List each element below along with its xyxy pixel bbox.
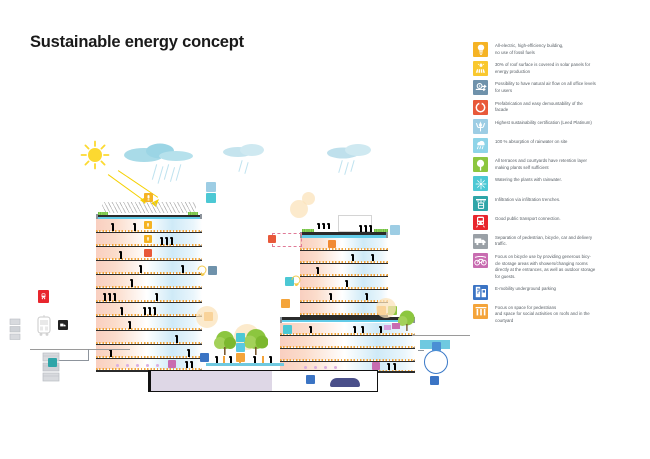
ground-line: [30, 349, 130, 350]
solar-panel-roof: [102, 202, 196, 213]
person-figure: [154, 308, 156, 315]
person-figure: [318, 224, 320, 229]
person-figure: [188, 350, 190, 357]
person-figure: [161, 238, 163, 245]
cloud-left: [122, 142, 194, 169]
person-figure: [330, 294, 332, 300]
bicycle-icon: [473, 253, 488, 268]
legend-label: All-electric, high-efficiency building, …: [495, 42, 563, 56]
legend-item-pedestrian-space[interactable]: Focus on space for pedestrians and space…: [473, 304, 648, 325]
person-figure: [186, 362, 188, 368]
person-figure: [144, 308, 146, 315]
legend-item-infiltration-trenches[interactable]: Infiltration via infiltration trenches.: [473, 196, 648, 211]
legend-label: Possibility to have natural air flow on …: [495, 80, 596, 94]
ev-charging-icon: [473, 285, 488, 300]
prefab-facade-callout: [272, 233, 302, 247]
person-figure: [346, 281, 348, 287]
courtyard-bollard: [223, 356, 225, 363]
person-figure: [171, 238, 173, 245]
legend-item-retention-layer[interactable]: All terraces and courtyards have retenti…: [473, 157, 648, 172]
legend-label: Prefabrication and easy demountability o…: [495, 100, 583, 114]
person-figure: [111, 223, 114, 225]
roadside-tree: [398, 310, 416, 337]
person-figure: [317, 223, 320, 225]
person-figure: [120, 307, 123, 309]
tram-illustration: [36, 315, 52, 342]
rain-drop: [170, 167, 175, 182]
glass-band: [280, 320, 415, 323]
lightbulb-badge: [144, 193, 153, 202]
delivery-truck-icon: [473, 234, 488, 249]
airflow-badge: [283, 325, 292, 334]
person-figure: [131, 280, 133, 287]
person-figure: [114, 294, 116, 301]
infiltration-trench-boxes-far-left: [8, 318, 22, 349]
legend-item-bicycle-focus[interactable]: Focus on bicycle use by providing genero…: [473, 253, 648, 280]
prefab-circle-icon: [473, 100, 488, 115]
person-figure: [190, 361, 193, 363]
person-figure: [149, 308, 151, 315]
planting-flower: [116, 364, 119, 367]
person-figure: [394, 364, 396, 370]
person-figure: [191, 362, 193, 368]
legend-item-traffic-separation[interactable]: Separation of pedestrian, bicycle, car a…: [473, 234, 648, 249]
person-figure: [120, 252, 122, 259]
person-figure: [108, 293, 111, 295]
ground-line-right: [412, 335, 470, 336]
lightbulb-icon: [473, 42, 488, 57]
tree-badge: [236, 343, 245, 352]
person-figure: [110, 350, 112, 357]
planting-flower: [136, 364, 139, 367]
person-figure: [366, 294, 368, 300]
planting-box: [392, 323, 400, 329]
planting-flower: [334, 366, 337, 369]
planting-flower: [304, 366, 307, 369]
legend-item-solar-panels[interactable]: 30% of roof surface is covered in solar …: [473, 61, 648, 76]
person-figure: [166, 238, 168, 245]
person-figure: [388, 364, 390, 370]
central-courtyard: [206, 320, 284, 370]
person-figure: [140, 266, 142, 273]
cistern-pipe: [418, 350, 424, 351]
person-figure: [176, 336, 178, 343]
airflow-badge: [206, 193, 216, 203]
tree-retention-icon: [473, 157, 488, 172]
legend-label: Focus on space for pedestrians and space…: [495, 304, 590, 325]
ev-charging-badge: [306, 375, 315, 384]
warm-halo: [376, 298, 396, 318]
roof-pavilion: [338, 215, 372, 232]
sun-icon: [80, 140, 110, 170]
person-figure: [155, 293, 158, 295]
airflow-swirl-icon: [196, 262, 210, 276]
person-figure: [322, 223, 325, 225]
person-figure: [270, 357, 272, 363]
person-figure: [134, 224, 136, 231]
person-figure: [327, 223, 330, 225]
person-figure: [175, 335, 178, 337]
legend-label: Highest sustainability certification (Le…: [495, 119, 592, 127]
page-title: Sustainable energy concept: [30, 33, 244, 52]
legend-item-e-mobility-parking[interactable]: E-mobility underground parking: [473, 285, 648, 300]
irrigation-icon: [473, 176, 488, 191]
leed-badge: [390, 225, 400, 235]
person-figure: [216, 357, 218, 363]
legend-label: Separation of pedestrian, bicycle, car a…: [495, 234, 592, 248]
cloud-middle: [222, 142, 270, 163]
leed-badge: [206, 182, 216, 192]
courtyard-bollard: [262, 356, 264, 363]
illustration-canvas: [0, 120, 470, 410]
legend-item-watering-plants[interactable]: Watering the plants with rainwater.: [473, 176, 648, 191]
legend-panel: All-electric, high-efficiency building, …: [473, 42, 648, 329]
person-figure: [354, 327, 356, 333]
pedestrian-space-icon: [473, 304, 488, 319]
prefab-badge: [144, 249, 152, 257]
air-flow-icon: [473, 80, 488, 95]
person-figure: [119, 251, 122, 253]
legend-label: Focus on bicycle use by providing genero…: [495, 253, 595, 280]
parking-divider: [148, 370, 151, 392]
planting-flower: [324, 366, 327, 369]
rain-drop: [244, 162, 248, 174]
person-figure: [182, 266, 184, 273]
infiltration-trench-icon: [473, 196, 488, 211]
legend-item-leed-certification[interactable]: Highest sustainability certification (Le…: [473, 119, 648, 134]
cloud-right: [325, 142, 377, 165]
legend-label: Watering the plants with rainwater.: [495, 176, 562, 184]
planting-flower: [314, 366, 317, 369]
person-figure: [187, 349, 190, 351]
warm-halo: [196, 306, 218, 328]
person-figure: [372, 255, 374, 261]
person-figure: [269, 356, 272, 358]
bicycle-badge: [372, 362, 380, 370]
person-figure: [148, 307, 151, 309]
person-figure: [104, 294, 106, 301]
sunray-1: [108, 174, 144, 201]
parked-car: [330, 378, 360, 387]
legend-label: All terraces and courtyards have retenti…: [495, 157, 587, 171]
warm-halo: [302, 192, 315, 205]
person-figure: [129, 322, 131, 329]
person-figure: [103, 293, 106, 295]
person-figure: [143, 307, 146, 309]
legend-item-natural-air-flow[interactable]: Possibility to have natural air flow on …: [473, 80, 648, 95]
person-figure: [165, 237, 168, 239]
person-figure: [328, 224, 330, 229]
person-figure: [185, 361, 188, 363]
person-figure: [130, 279, 133, 281]
lightbulb-badge: [144, 221, 152, 229]
person-figure: [181, 265, 184, 267]
courtyard-tree: [244, 328, 268, 361]
leed-certification-icon: [473, 119, 488, 134]
person-figure: [170, 237, 173, 239]
person-figure: [352, 255, 354, 261]
planting-flower: [126, 364, 129, 367]
person-figure: [133, 223, 136, 225]
person-figure: [113, 293, 116, 295]
person-figure: [317, 268, 319, 274]
irrigation-badge: [432, 342, 441, 351]
airflow-swirl-icon: [290, 272, 304, 286]
delivery-truck-badge: [58, 320, 68, 330]
person-figure: [128, 321, 131, 323]
planting-box: [384, 325, 391, 330]
person-figure: [230, 357, 232, 363]
legend-item-prefabrication[interactable]: Prefabrication and easy demountability o…: [473, 100, 648, 115]
bicycle-badge: [168, 360, 176, 368]
person-figure: [254, 357, 256, 363]
person-figure: [121, 308, 123, 315]
legend-item-public-transport[interactable]: Good public transport connection.: [473, 215, 648, 230]
parking-floor-white: [272, 371, 377, 391]
person-figure: [160, 237, 163, 239]
pedestrian-badge: [281, 299, 290, 308]
left-tower: [96, 202, 202, 370]
person-figure: [109, 294, 111, 301]
lightbulb-badge: [144, 235, 152, 243]
pedestrian-badge: [236, 353, 245, 362]
person-figure: [365, 226, 367, 232]
planting-flower: [146, 364, 149, 367]
legend-label: Infiltration via infiltration trenches.: [495, 196, 560, 204]
courtyard-paving: [206, 363, 284, 366]
planting-flower: [156, 364, 159, 367]
person-figure: [112, 224, 114, 231]
train-badge: [38, 290, 49, 303]
legend-item-all-electric[interactable]: All-electric, high-efficiency building, …: [473, 42, 648, 57]
right-upper-tower: [300, 215, 388, 320]
person-figure: [323, 224, 325, 229]
legend-label: 100 % absorption of rainwater on site: [495, 138, 567, 146]
person-figure: [360, 226, 362, 232]
person-figure: [139, 265, 142, 267]
infiltration-badge: [430, 376, 439, 385]
person-figure: [370, 226, 372, 232]
prefab-badge-callout: [268, 235, 276, 243]
rain-cloud-icon: [473, 138, 488, 153]
page-root: Sustainable energy concept: [0, 0, 650, 459]
infiltration-badge: [48, 358, 57, 367]
legend-label: Good public transport connection.: [495, 215, 561, 223]
prefab-badge: [328, 240, 336, 248]
person-figure: [310, 327, 312, 333]
rainwater-cistern: [424, 350, 448, 374]
legend-item-rainwater-absorption[interactable]: 100 % absorption of rainwater on site: [473, 138, 648, 153]
legend-label: 30% of roof surface is covered in solar …: [495, 61, 590, 75]
legend-label: E-mobility underground parking: [495, 285, 556, 293]
irrigation-badge: [236, 333, 245, 342]
train-icon: [473, 215, 488, 230]
person-figure: [153, 307, 156, 309]
solar-panel-icon: [473, 61, 488, 76]
person-figure: [362, 327, 364, 333]
person-figure: [380, 327, 382, 333]
person-figure: [156, 294, 158, 301]
